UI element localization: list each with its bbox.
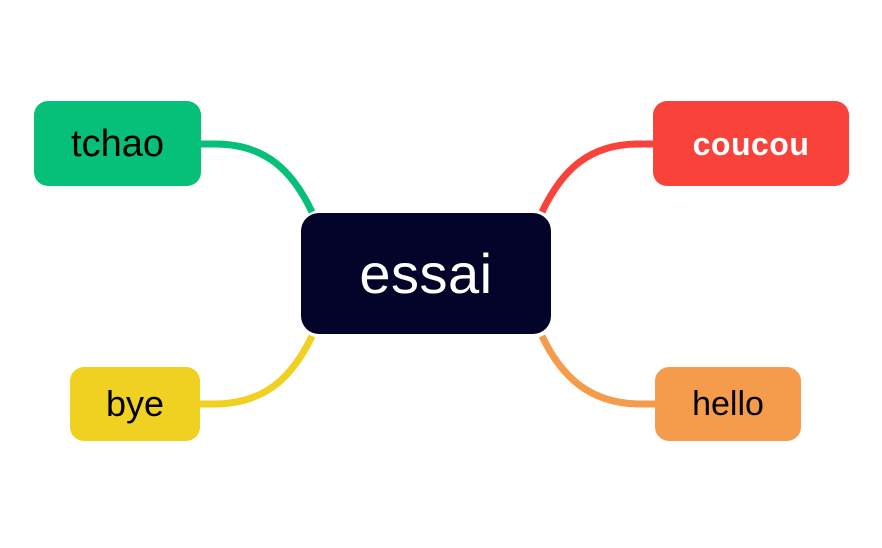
mindmap-node-tchao[interactable]: tchao xyxy=(34,101,201,186)
mindmap-canvas: tchao coucou essai bye hello xyxy=(0,0,882,548)
connector-tchao xyxy=(198,144,312,212)
connector-hello xyxy=(542,336,658,404)
node-label-coucou: coucou xyxy=(693,128,810,160)
mindmap-node-bye[interactable]: bye xyxy=(70,367,200,441)
node-label-central: essai xyxy=(359,246,492,302)
connector-coucou xyxy=(542,144,656,212)
mindmap-node-central[interactable]: essai xyxy=(301,213,551,334)
node-label-tchao: tchao xyxy=(71,125,164,163)
mindmap-node-hello[interactable]: hello xyxy=(655,367,801,441)
node-label-hello: hello xyxy=(692,387,764,421)
connector-bye xyxy=(197,336,312,404)
node-label-bye: bye xyxy=(106,386,164,422)
mindmap-node-coucou[interactable]: coucou xyxy=(653,101,849,186)
